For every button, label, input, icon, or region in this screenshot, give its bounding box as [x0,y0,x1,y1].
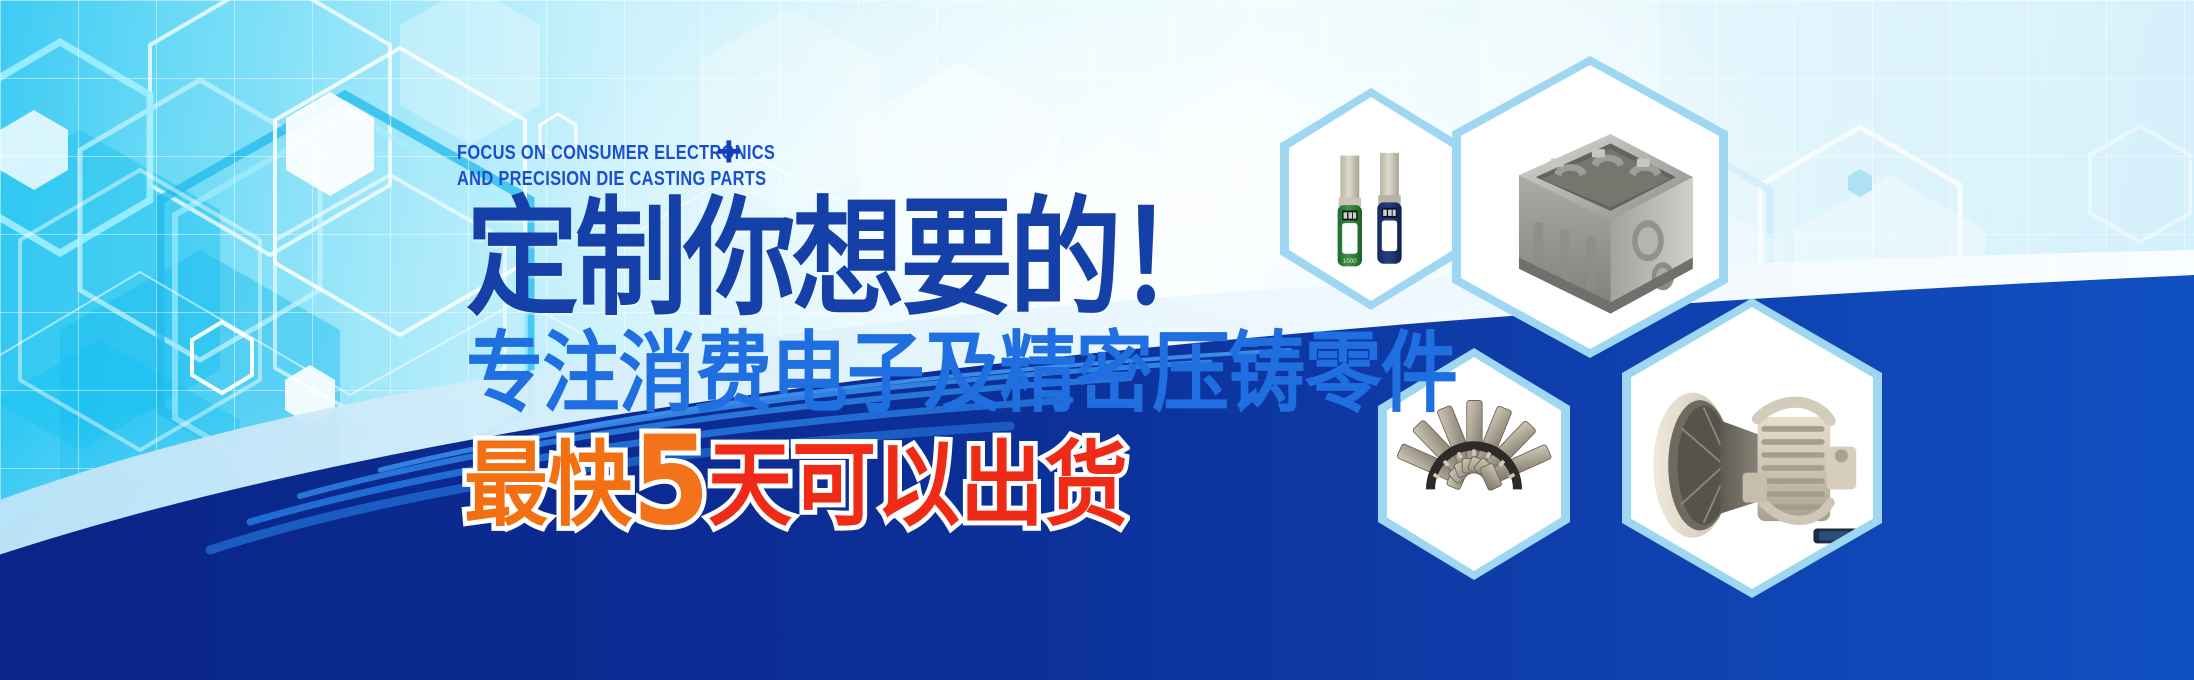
headline: 定制你想要的！ [466,196,1226,324]
tagline: 最快5天可以出货 [464,420,1128,543]
subheadline: 专注消费电子及精密压铸零件 [466,330,1457,418]
plus-icon: + [716,130,742,174]
tagline-suffix: 天可以出货 [708,431,1128,539]
promo-banner: 1000 [0,0,2194,680]
tagline-number: 5 [632,410,708,553]
copy-block: FOCUS ON CONSUMER ELECTRONICS AND PRECIS… [0,0,2194,680]
tagline-prefix: 最快 [464,431,632,539]
